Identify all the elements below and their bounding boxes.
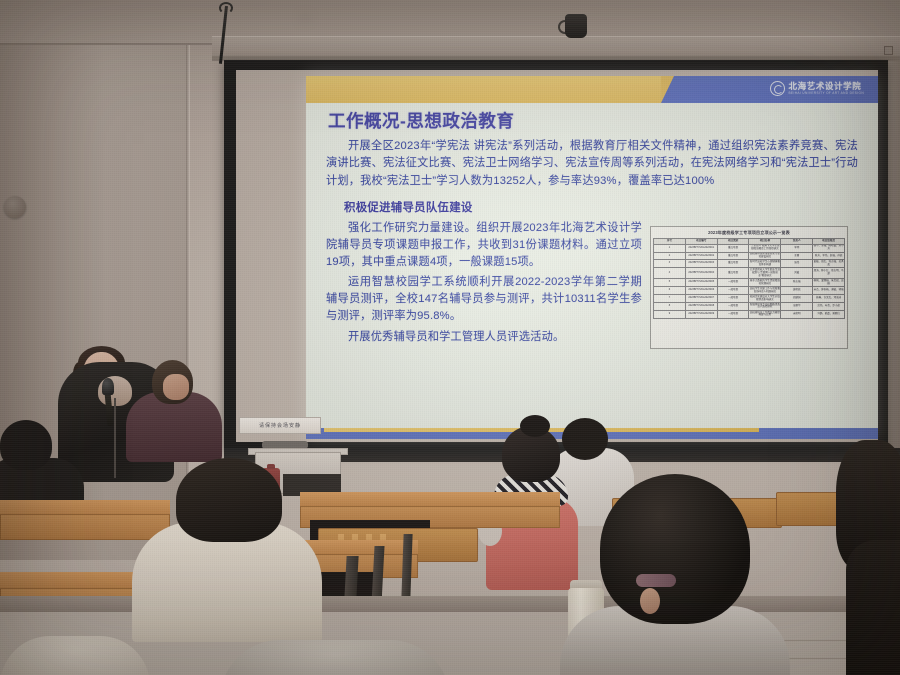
slide-paragraph: 强化工作研究力量建设。组织开展2023年北海艺术设计学院辅导员专项课题申报工作，… [326,220,642,271]
audience-member-head [0,420,52,470]
table-cell: 2023BHYSXG2023001 [685,244,717,252]
table-cell: 2023BHYSXG2023005 [685,279,717,287]
table-cell: 一般项目 [717,279,749,287]
lecture-bench [0,514,170,540]
table-cell: 重点项目 [717,252,749,260]
table-cell: 李明 [781,244,813,252]
table-row: 72023BHYSXG2023007一般项目校园文化建设对大学生价值观塑造影响研… [654,295,845,303]
embedded-table-image: 2023年度校级学工专项项目立项公示一览表 序号项目编号项目类别项目名称负责人项… [650,226,848,348]
slide-header-gold-accent [306,76,661,103]
slide-sub-heading: 积极促进辅导员队伍建设 [344,199,858,215]
audience-member-head [562,418,608,460]
table-cell: 张伟 [781,260,813,268]
table-cell: 高校辅导员工作胜任力模型构建与应用 [749,310,781,318]
table-cell: 2023BHYSXG2023006 [685,287,717,295]
table-cell: 重点项目 [717,268,749,279]
table-cell: 5 [654,279,686,287]
table-cell: 2023BHYSXG2023007 [685,295,717,303]
table-cell: 陈芳、李伟、赵强、孙燕 [813,252,845,260]
table-cell: 一般项目 [717,295,749,303]
table-cell: 吴丽华 [781,303,813,311]
table-cell: 周建国 [781,295,813,303]
school-name-cn: 北海艺术设计学院 [789,82,864,91]
table-cell: 艺术类院校大学生职业生涯规划与“互联网＋创新创业”教育研究 [749,268,781,279]
table-cell: 新媒体环境下高校网络思政育人路径探索 [749,303,781,311]
table-cell: 一般项目 [717,303,749,311]
table-cell: 杨帆、梁丽娟、朱文斌、高峰 [813,279,845,287]
table-cell: 范伟、叶青、罗小燕 [813,303,845,311]
table-cell: 2023BHYSXG2023003 [685,260,717,268]
table-row: 42023BHYSXG2023004重点项目艺术类院校大学生职业生涯规划与“互联… [654,268,845,279]
table-row: 22023BHYSXG2023002重点项目高校辅导员队伍职业化专业化建设研究王… [654,252,845,260]
hair-tie [636,574,676,587]
table-cell: 苏杰、钟玉梅、谢敏、郭强 [813,287,845,295]
slide-paragraph: 运用智慧校园学工系统顺利开展2022-2023学年第二学期辅导员测评，全校147… [326,274,642,325]
table-cell: 4 [654,268,686,279]
table-cell: “三全育人”视角下大学生思想政治教育工作路径研究 [749,244,781,252]
table-cell: 2 [654,252,686,260]
project-table: 序号项目编号项目类别项目名称负责人项目组成员 12023BHYSXG202300… [653,238,845,318]
table-cell: 2023BHYSXG2023002 [685,252,717,260]
lecture-hall-photo: 北海艺术设计学院 BEIHAI UNIVERSITY OF ART AND DE… [0,0,900,675]
table-cell: 3 [654,260,686,268]
table-cell: 宋晓明 [781,310,813,318]
table-cell: 校园文化建设对大学生价值观塑造影响研究 [749,295,781,303]
table-cell: 刘敏 [781,268,813,279]
hair-bun [520,415,550,437]
slide-paragraph: 开展全区2023年“学宪法 讲宪法”系列活动，根据教育厅相关文件精神，通过组织宪… [326,138,858,190]
table-cell: 重点项目 [717,260,749,268]
table-cell: 2023BHYSXG2023008 [685,303,717,311]
table-row: 92023BHYSXG2023009一般项目高校辅导员工作胜任力模型构建与应用宋… [654,310,845,318]
table-cell: 黄敏、周杰、何志强、吴秀英 [813,260,845,268]
table-cell: 郑涛、林小红、徐志明、马超 [813,268,845,279]
speaker-jacket-zipper [114,398,116,478]
table-cell: 2023BHYSXG2023004 [685,268,717,279]
table-cell: 一般项目 [717,310,749,318]
table-cell: 重点项目 [717,244,749,252]
table-cell: 黄晓燕 [781,287,813,295]
fur-hood [220,640,450,675]
wall-mark [300,14,310,22]
table-cell: 高校学生党建工作与思政教育协同育人机制研究 [749,287,781,295]
table-cell: 8 [654,303,686,311]
audience-member-head [176,458,282,542]
table-caption: 2023年度校级学工专项项目立项公示一览表 [653,230,845,236]
wall-fixture-icon [4,196,26,218]
slide-title: 工作概况-思想政治教育 [328,108,514,133]
audience-member-face [163,374,189,400]
table-row: 62023BHYSXG2023006一般项目高校学生党建工作与思政教育协同育人机… [654,287,845,295]
wall-sign-text: 请保持会场安静 [259,422,301,429]
slide-paragraph: 开展优秀辅导员和学工管理人员评选活动。 [326,329,642,346]
table-cell: 基于大数据的学生资助精准化管理研究 [749,279,781,287]
audience-member-ear [640,588,660,614]
table-row: 12023BHYSXG2023001重点项目“三全育人”视角下大学生思想政治教育… [654,244,845,252]
table-cell: 蔡琳、许文杰、邓海涛 [813,295,845,303]
school-logo: 北海艺术设计学院 BEIHAI UNIVERSITY OF ART AND DE… [770,81,864,96]
microphone-icon [102,378,114,395]
wall-corner-fitting [884,46,893,55]
table-cell: 一般项目 [717,287,749,295]
audience-member-head [846,540,900,675]
table-cell: 7 [654,295,686,303]
presentation-slide[interactable]: 北海艺术设计学院 BEIHAI UNIVERSITY OF ART AND DE… [306,76,878,439]
slide-header-bar: 北海艺术设计学院 BEIHAI UNIVERSITY OF ART AND DE… [306,76,878,103]
slide-body: 开展全区2023年“学宪法 讲宪法”系列活动，根据教育厅相关文件精神，通过组织宪… [326,138,858,349]
table-row: 52023BHYSXG2023005一般项目基于大数据的学生资助精准化管理研究陈… [654,279,845,287]
screen-housing [212,36,900,58]
wall-sign: 请保持会场安静 [239,417,321,434]
table-cell: 高校辅导员队伍职业化专业化建设研究 [749,252,781,260]
table-cell: 王丽 [781,252,813,260]
ceiling-speaker-icon [565,14,587,38]
slide-left-column: 强化工作研究力量建设。组织开展2023年北海艺术设计学院辅导员专项课题申报工作，… [326,220,642,348]
table-cell: 张华、王强、陈晓云、刘小芳 [813,244,845,252]
table-body: 12023BHYSXG2023001重点项目“三全育人”视角下大学生思想政治教育… [654,244,845,318]
table-cell: 新时代高校学生心理健康教育体系构建 [749,260,781,268]
table-cell: 陈志强 [781,279,813,287]
swirl-logo-icon [770,81,785,96]
table-row: 82023BHYSXG2023008一般项目新媒体环境下高校网络思政育人路径探索… [654,303,845,311]
school-name-en: BEIHAI UNIVERSITY OF ART AND DESIGN [789,92,864,95]
table-cell: 冯静、韩磊、曾丽红 [813,310,845,318]
audience-member-head [600,474,750,624]
table-cell: 6 [654,287,686,295]
table-cell: 2023BHYSXG2023009 [685,310,717,318]
table-cell: 1 [654,244,686,252]
table-cell: 9 [654,310,686,318]
table-row: 32023BHYSXG2023003重点项目新时代高校学生心理健康教育体系构建张… [654,260,845,268]
